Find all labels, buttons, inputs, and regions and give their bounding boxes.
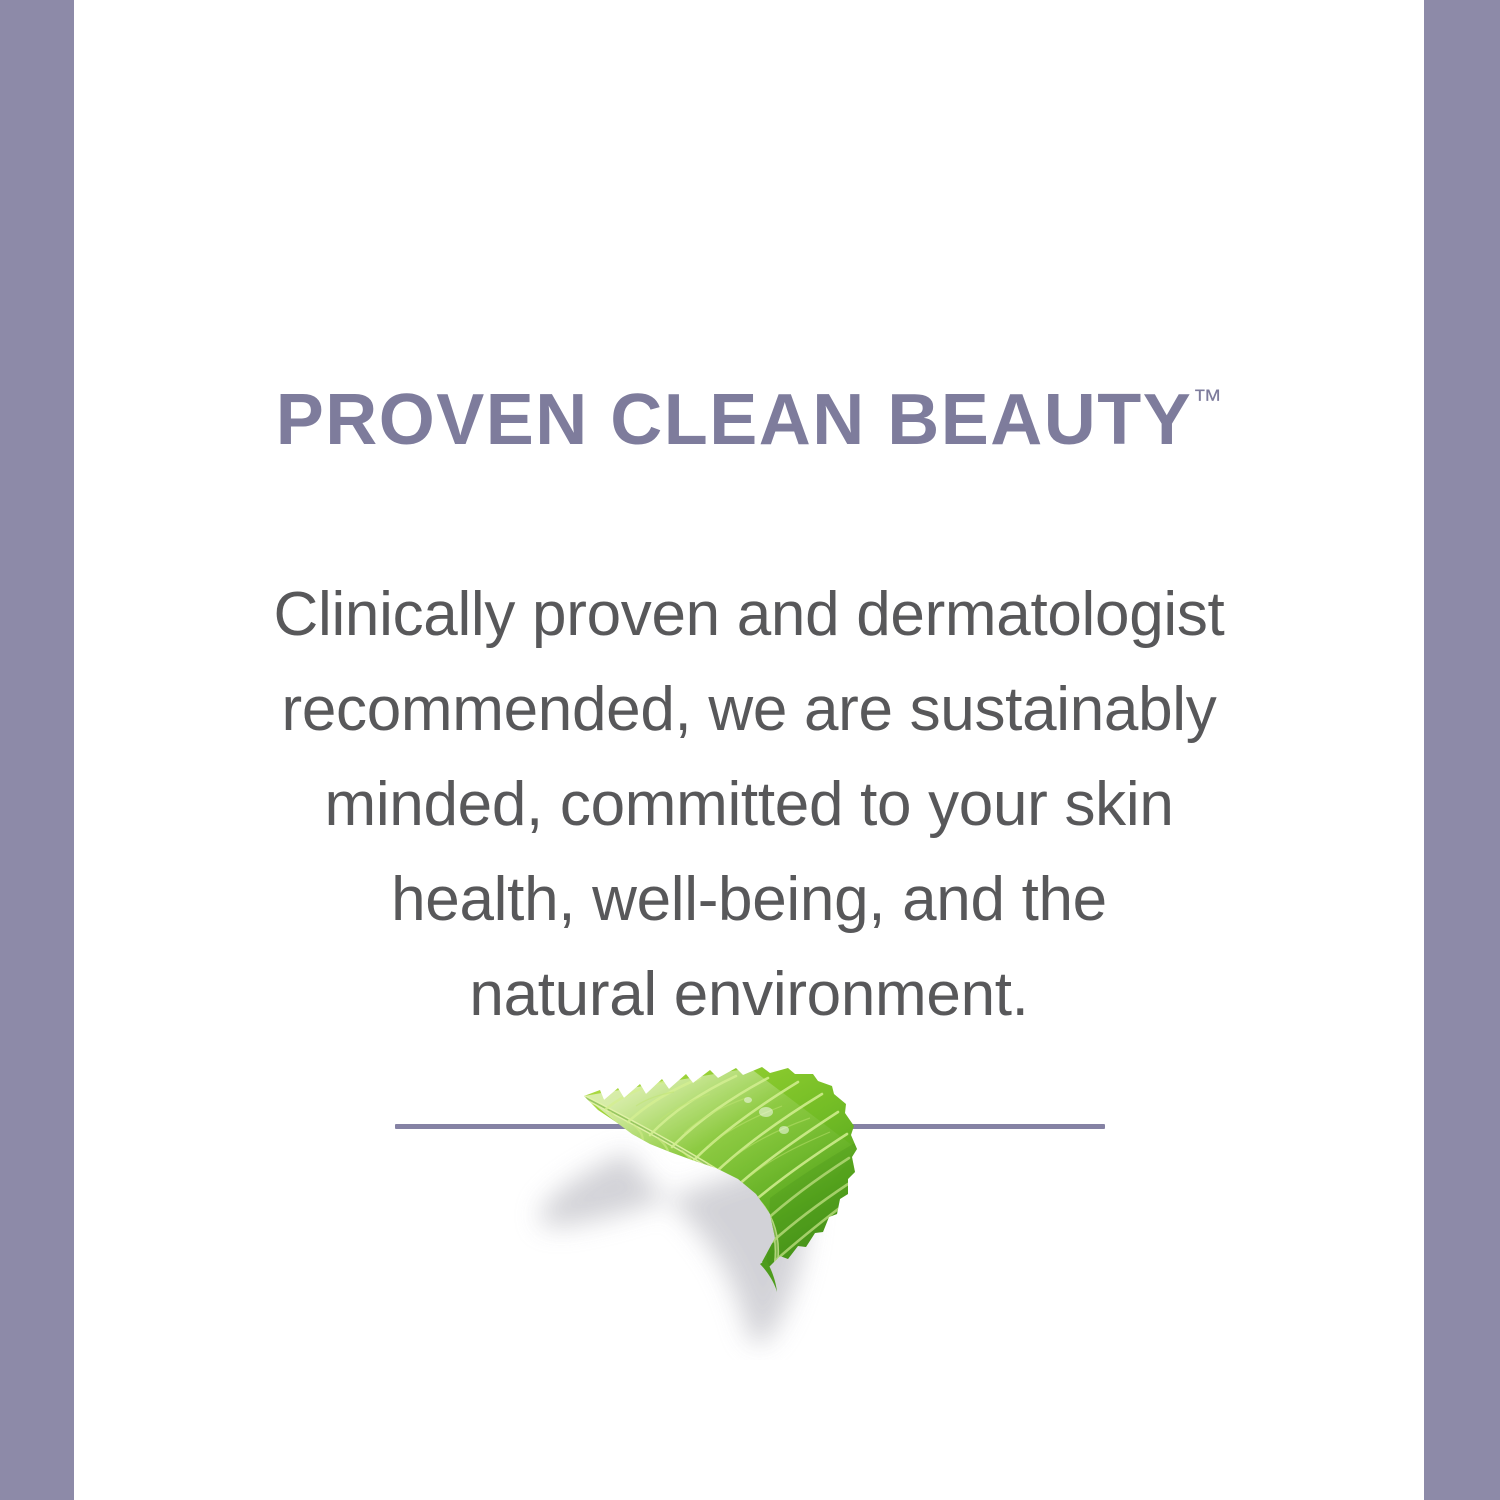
body-line: recommended, we are sustainably xyxy=(74,662,1424,757)
page-title: PROVEN CLEAN BEAUTY™ xyxy=(74,384,1424,456)
right-accent-band xyxy=(1424,0,1500,1500)
green-leaf-icon xyxy=(570,1048,880,1298)
content-column: PROVEN CLEAN BEAUTY™ Clinically proven a… xyxy=(74,0,1424,1500)
body-line: Clinically proven and dermatologist xyxy=(74,567,1424,662)
body-line: minded, committed to your skin xyxy=(74,757,1424,852)
promo-card: PROVEN CLEAN BEAUTY™ Clinically proven a… xyxy=(0,0,1500,1500)
page-title-text: PROVEN CLEAN BEAUTY xyxy=(276,380,1193,460)
left-accent-band xyxy=(0,0,74,1500)
leaf-divider-ornament xyxy=(74,1020,1424,1420)
trademark-symbol: ™ xyxy=(1192,384,1222,417)
body-line: health, well-being, and the xyxy=(74,852,1424,947)
body-paragraph: Clinically proven and dermatologist reco… xyxy=(74,567,1424,1042)
